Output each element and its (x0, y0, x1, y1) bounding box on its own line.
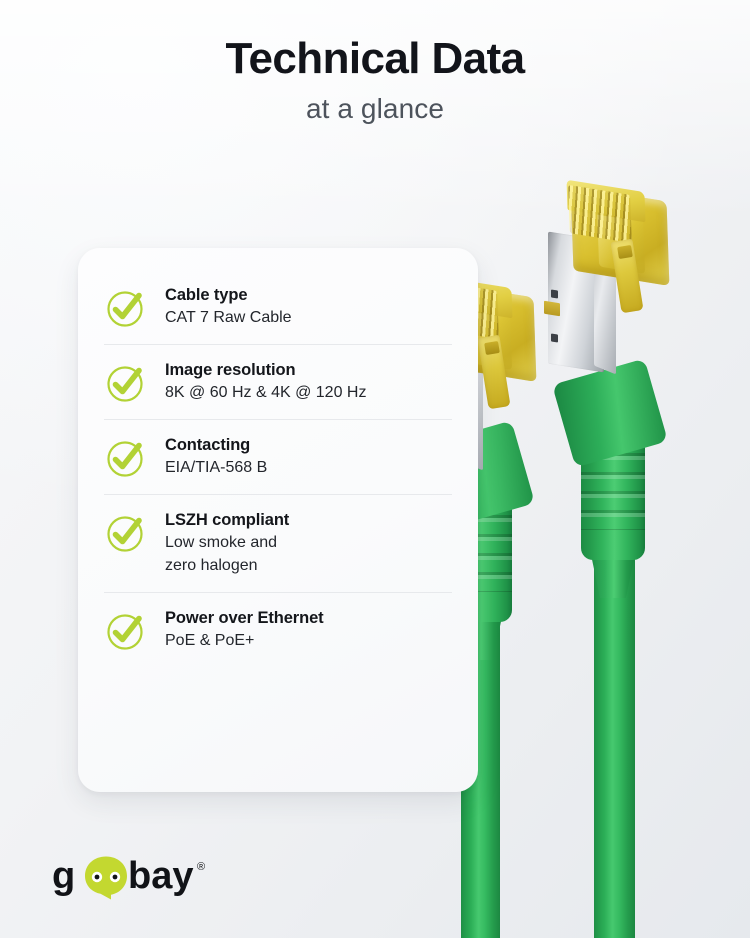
feature-item-image-resolution: Image resolution 8K @ 60 Hz & 4K @ 120 H… (104, 344, 452, 419)
technical-data-card: Cable type CAT 7 Raw Cable Image resolut… (78, 248, 478, 792)
shield-hole-right-2 (551, 333, 558, 342)
feature-text: Image resolution 8K @ 60 Hz & 4K @ 120 H… (165, 359, 366, 405)
goobay-logo: g bay ® (52, 854, 242, 900)
logo-bubble-shape (85, 857, 127, 900)
logo-registered-mark: ® (197, 861, 205, 873)
page-subtitle: at a glance (0, 92, 750, 126)
page-title: Technical Data (0, 34, 750, 83)
logo-o-1-pupil (95, 875, 100, 880)
feature-title: Power over Ethernet (165, 608, 324, 629)
feature-description: EIA/TIA-568 B (165, 457, 267, 480)
connector-gold-pins-right (568, 185, 632, 243)
check-circle-icon (104, 609, 148, 653)
connector-latch-nub-left (484, 341, 500, 355)
logo-text-before: g (52, 855, 75, 897)
shield-hole-right-1 (551, 289, 558, 298)
page-header: Technical Data at a glance (0, 34, 750, 126)
feature-description: CAT 7 Raw Cable (165, 307, 292, 330)
check-circle-icon (104, 361, 148, 405)
feature-title: Cable type (165, 285, 292, 306)
logo-o-2-pupil (113, 875, 118, 880)
check-circle-icon (104, 511, 148, 555)
feature-title: Image resolution (165, 360, 366, 381)
feature-description: Low smoke and zero halogen (165, 532, 289, 577)
feature-text: Contacting EIA/TIA-568 B (165, 434, 267, 480)
check-circle-icon (104, 286, 148, 330)
feature-title: LSZH compliant (165, 510, 289, 531)
feature-text: Power over Ethernet PoE & PoE+ (165, 607, 324, 653)
feature-item-cable-type: Cable type CAT 7 Raw Cable (104, 270, 452, 344)
feature-description: PoE & PoE+ (165, 630, 324, 653)
feature-item-power-over-ethernet: Power over Ethernet PoE & PoE+ (104, 592, 452, 667)
feature-item-contacting: Contacting EIA/TIA-568 B (104, 419, 452, 494)
feature-text: Cable type CAT 7 Raw Cable (165, 284, 292, 330)
feature-text: LSZH compliant Low smoke and zero haloge… (165, 509, 289, 578)
logo-text-after: bay (128, 855, 193, 897)
connector-latch-nub-right (617, 245, 633, 259)
shield-notch-right (544, 301, 560, 317)
rj45-connector-right (542, 184, 692, 384)
feature-item-lszh-compliant: LSZH compliant Low smoke and zero haloge… (104, 494, 452, 592)
feature-title: Contacting (165, 435, 267, 456)
check-circle-icon (104, 436, 148, 480)
feature-description: 8K @ 60 Hz & 4K @ 120 Hz (165, 382, 366, 405)
